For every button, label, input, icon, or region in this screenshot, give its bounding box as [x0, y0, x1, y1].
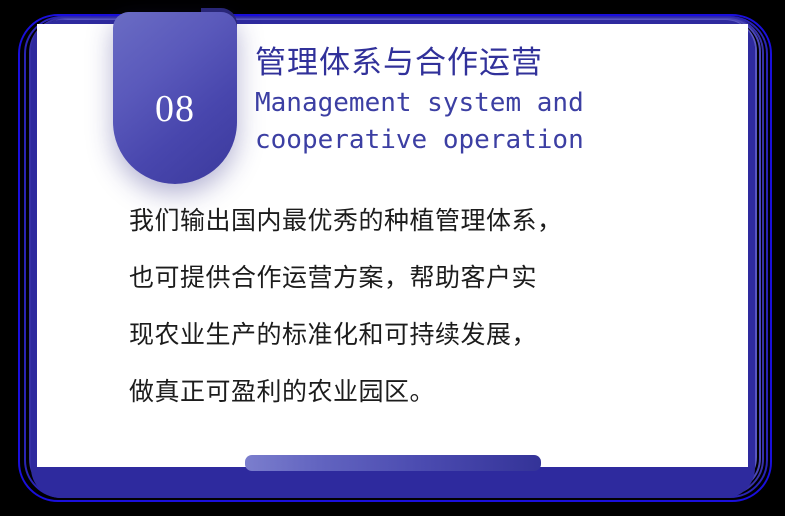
heading-block: 管理体系与合作运营 Management system and cooperat… [255, 44, 725, 159]
body-line-4: 做真正可盈利的农业园区。 [129, 363, 689, 420]
bottom-accent-bar [245, 455, 541, 471]
body-line-1: 我们输出国内最优秀的种植管理体系， [129, 192, 689, 249]
slide-canvas: 08 管理体系与合作运营 Management system and coope… [0, 0, 785, 516]
section-title-chinese: 管理体系与合作运营 [255, 44, 725, 83]
section-title-english-line-1: Management system and [255, 85, 725, 122]
section-title-english: Management system and cooperative operat… [255, 85, 725, 159]
section-title-english-line-2: cooperative operation [255, 122, 725, 159]
section-number-badge: 08 [113, 8, 237, 184]
body-paragraph: 我们输出国内最优秀的种植管理体系， 也可提供合作运营方案，帮助客户实 现农业生产… [129, 192, 689, 420]
badge-body: 08 [113, 12, 237, 184]
body-line-2: 也可提供合作运营方案，帮助客户实 [129, 249, 689, 306]
badge-number-label: 08 [155, 90, 195, 128]
body-line-3: 现农业生产的标准化和可持续发展， [129, 306, 689, 363]
